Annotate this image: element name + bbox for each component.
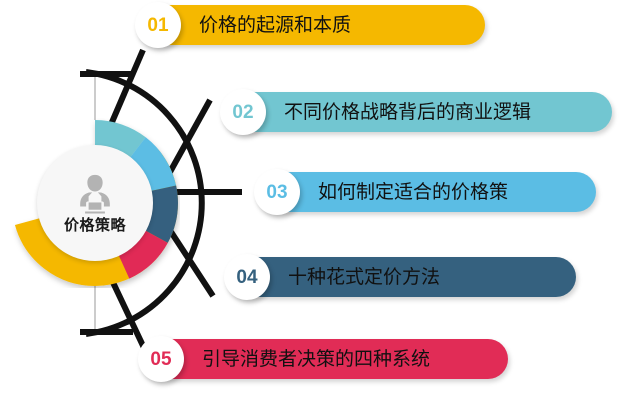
badge-number-03: 03 bbox=[266, 183, 287, 202]
person-with-laptop-icon bbox=[72, 173, 118, 217]
list-item-04[interactable]: 04 十种花式定价方法 bbox=[226, 257, 576, 297]
list-item-label-04: 十种花式定价方法 bbox=[288, 268, 440, 287]
badge-number-01: 01 bbox=[147, 16, 168, 35]
list-item-05[interactable]: 05 引导消费者决策的四种系统 bbox=[140, 339, 508, 379]
badge-number-05: 05 bbox=[150, 350, 171, 369]
badge-number-04: 04 bbox=[236, 268, 257, 287]
badge-01: 01 bbox=[135, 2, 181, 48]
badge-05: 05 bbox=[138, 336, 184, 382]
list-item-label-03: 如何制定适合的价格策 bbox=[318, 183, 508, 202]
badge-02: 02 bbox=[220, 89, 266, 135]
list-item-03[interactable]: 03 如何制定适合的价格策 bbox=[256, 172, 596, 212]
infographic-canvas: 价格策略 01 价格的起源和本质 02 不同价格战略背后的商业逻辑 03 如何制… bbox=[0, 0, 624, 401]
list-item-label-01: 价格的起源和本质 bbox=[199, 16, 351, 35]
donut-chart: 价格策略 bbox=[10, 118, 180, 288]
badge-04: 04 bbox=[224, 254, 270, 300]
list-item-label-05: 引导消费者决策的四种系统 bbox=[202, 350, 430, 369]
badge-03: 03 bbox=[254, 169, 300, 215]
center-label: 价格策略 bbox=[64, 218, 126, 233]
center-hub: 价格策略 bbox=[37, 145, 153, 261]
list-item-01[interactable]: 01 价格的起源和本质 bbox=[137, 5, 485, 45]
list-item-02[interactable]: 02 不同价格战略背后的商业逻辑 bbox=[222, 92, 612, 132]
badge-number-02: 02 bbox=[232, 103, 253, 122]
list-item-label-02: 不同价格战略背后的商业逻辑 bbox=[284, 103, 531, 122]
